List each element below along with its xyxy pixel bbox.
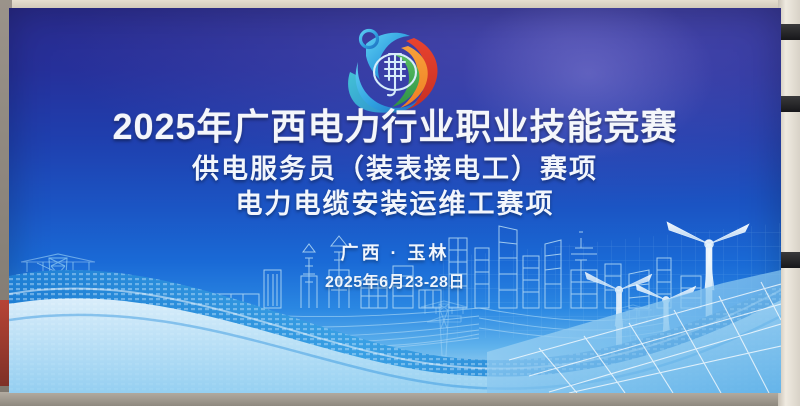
banner-subtitle-event-1: 供电服务员（装表接电工）赛项 — [9, 152, 781, 188]
event-backdrop-banner: 2025年广西电力行业职业技能竞赛 供电服务员（装表接电工）赛项 电力电缆安装运… — [9, 8, 781, 393]
door-hinge-lower — [778, 252, 800, 268]
banner-date: 2025年6月23-28日 — [9, 268, 781, 292]
competition-logo — [336, 22, 454, 118]
door-frame — [778, 0, 800, 406]
door-hinge-upper — [778, 24, 800, 40]
floor-strip — [0, 392, 800, 406]
banner-location: 广西 · 玉林 — [9, 239, 781, 265]
banner-subtitle-event-2: 电力电缆安装运维工赛项 — [9, 187, 781, 223]
banner-text-block: 2025年广西电力行业职业技能竞赛 供电服务员（装表接电工）赛项 电力电缆安装运… — [9, 108, 781, 292]
logo-swoosh — [392, 38, 438, 110]
photo-scene: 2025年广西电力行业职业技能竞赛 供电服务员（装表接电工）赛项 电力电缆安装运… — [0, 0, 800, 406]
door-hinge-middle — [778, 96, 800, 112]
banner-main-title: 2025年广西电力行业职业技能竞赛 — [9, 108, 781, 146]
